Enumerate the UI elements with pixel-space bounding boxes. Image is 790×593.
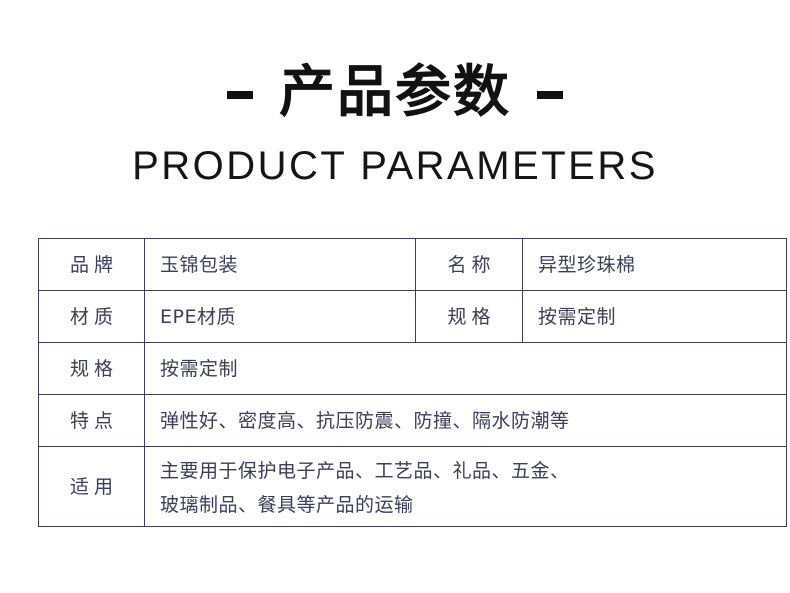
row-label-name: 名称 <box>416 239 523 291</box>
row-value-name: 异型珍珠棉 <box>523 239 787 291</box>
row-value-application: 主要用于保护电子产品、工艺品、礼品、五金、 玻璃制品、餐具等产品的运输 <box>145 447 787 527</box>
table-row: 品牌 玉锦包装 名称 异型珍珠棉 <box>39 239 787 291</box>
row-value-features: 弹性好、密度高、抗压防震、防撞、隔水防潮等 <box>145 395 787 447</box>
row-label-application: 适用 <box>39 447 145 527</box>
row-value-specification: 按需定制 <box>145 343 787 395</box>
row-value-application-line-2: 玻璃制品、餐具等产品的运输 <box>160 490 786 520</box>
product-parameters-table: 品牌 玉锦包装 名称 异型珍珠棉 材质 EPE材质 规格 按需定制 规格 按需定… <box>38 238 787 527</box>
row-value-brand: 玉锦包装 <box>145 239 416 291</box>
table-row: 适用 主要用于保护电子产品、工艺品、礼品、五金、 玻璃制品、餐具等产品的运输 <box>39 447 787 527</box>
title-dash-right-icon <box>537 91 563 99</box>
product-parameters-table-container: 品牌 玉锦包装 名称 异型珍珠棉 材质 EPE材质 规格 按需定制 规格 按需定… <box>38 238 752 527</box>
table-row: 材质 EPE材质 规格 按需定制 <box>39 291 787 343</box>
table-row: 规格 按需定制 <box>39 343 787 395</box>
row-value-specification-top: 按需定制 <box>523 291 787 343</box>
row-label-features: 特点 <box>39 395 145 447</box>
page-title-chinese: 产品参数 <box>279 58 511 128</box>
row-label-specification: 规格 <box>39 343 145 395</box>
row-label-specification-top: 规格 <box>416 291 523 343</box>
row-label-brand: 品牌 <box>39 239 145 291</box>
row-label-material: 材质 <box>39 291 145 343</box>
title-dash-left-icon <box>227 91 253 99</box>
page-title-english: PRODUCT PARAMETERS <box>0 142 790 190</box>
row-value-application-line-1: 主要用于保护电子产品、工艺品、礼品、五金、 <box>160 456 786 486</box>
row-value-material: EPE材质 <box>145 291 416 343</box>
title-chinese-row: 产品参数 <box>0 58 790 128</box>
table-row: 特点 弹性好、密度高、抗压防震、防撞、隔水防潮等 <box>39 395 787 447</box>
